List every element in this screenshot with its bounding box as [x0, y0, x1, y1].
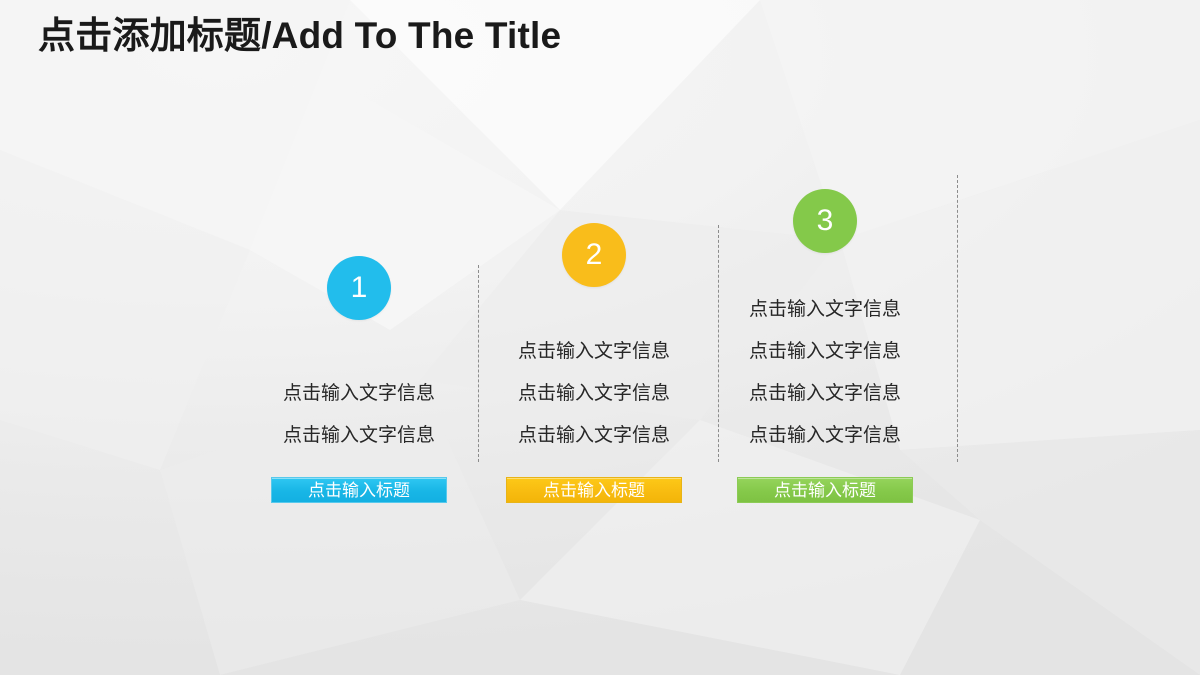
column-3-text-block: 点击输入文字信息 点击输入文字信息 点击输入文字信息 点击输入文字信息 [705, 289, 945, 457]
content-columns: 1 点击输入文字信息 点击输入文字信息 点击输入标题 2 点击输入文字信息 点击… [0, 0, 1200, 675]
text-line: 点击输入文字信息 [474, 331, 714, 373]
step-number-3: 3 [817, 204, 834, 238]
divider-after-column-3 [957, 175, 958, 462]
column-1-text-block: 点击输入文字信息 点击输入文字信息 [239, 373, 479, 457]
step-number-1: 1 [351, 271, 368, 305]
text-line: 点击输入文字信息 [705, 373, 945, 415]
column-2-title-button[interactable]: 点击输入标题 [506, 477, 682, 503]
text-line: 点击输入文字信息 [474, 373, 714, 415]
step-number-2: 2 [586, 238, 603, 272]
text-line: 点击输入文字信息 [705, 415, 945, 457]
text-line: 点击输入文字信息 [239, 415, 479, 457]
text-line: 点击输入文字信息 [474, 415, 714, 457]
divider-after-column-2 [718, 225, 719, 462]
column-2: 2 点击输入文字信息 点击输入文字信息 点击输入文字信息 点击输入标题 [474, 0, 714, 675]
step-number-badge-2: 2 [562, 223, 626, 287]
column-2-text-block: 点击输入文字信息 点击输入文字信息 点击输入文字信息 [474, 331, 714, 457]
slide-canvas: 点击添加标题/Add To The Title 1 点击输入文字信息 点击输入文… [0, 0, 1200, 675]
step-number-badge-1: 1 [327, 256, 391, 320]
column-3-title-button[interactable]: 点击输入标题 [737, 477, 913, 503]
column-1: 1 点击输入文字信息 点击输入文字信息 点击输入标题 [239, 0, 479, 675]
column-3: 3 点击输入文字信息 点击输入文字信息 点击输入文字信息 点击输入文字信息 点击… [705, 0, 945, 675]
text-line: 点击输入文字信息 [705, 289, 945, 331]
column-1-title-button[interactable]: 点击输入标题 [271, 477, 447, 503]
text-line: 点击输入文字信息 [239, 373, 479, 415]
step-number-badge-3: 3 [793, 189, 857, 253]
divider-after-column-1 [478, 265, 479, 462]
text-line: 点击输入文字信息 [705, 331, 945, 373]
